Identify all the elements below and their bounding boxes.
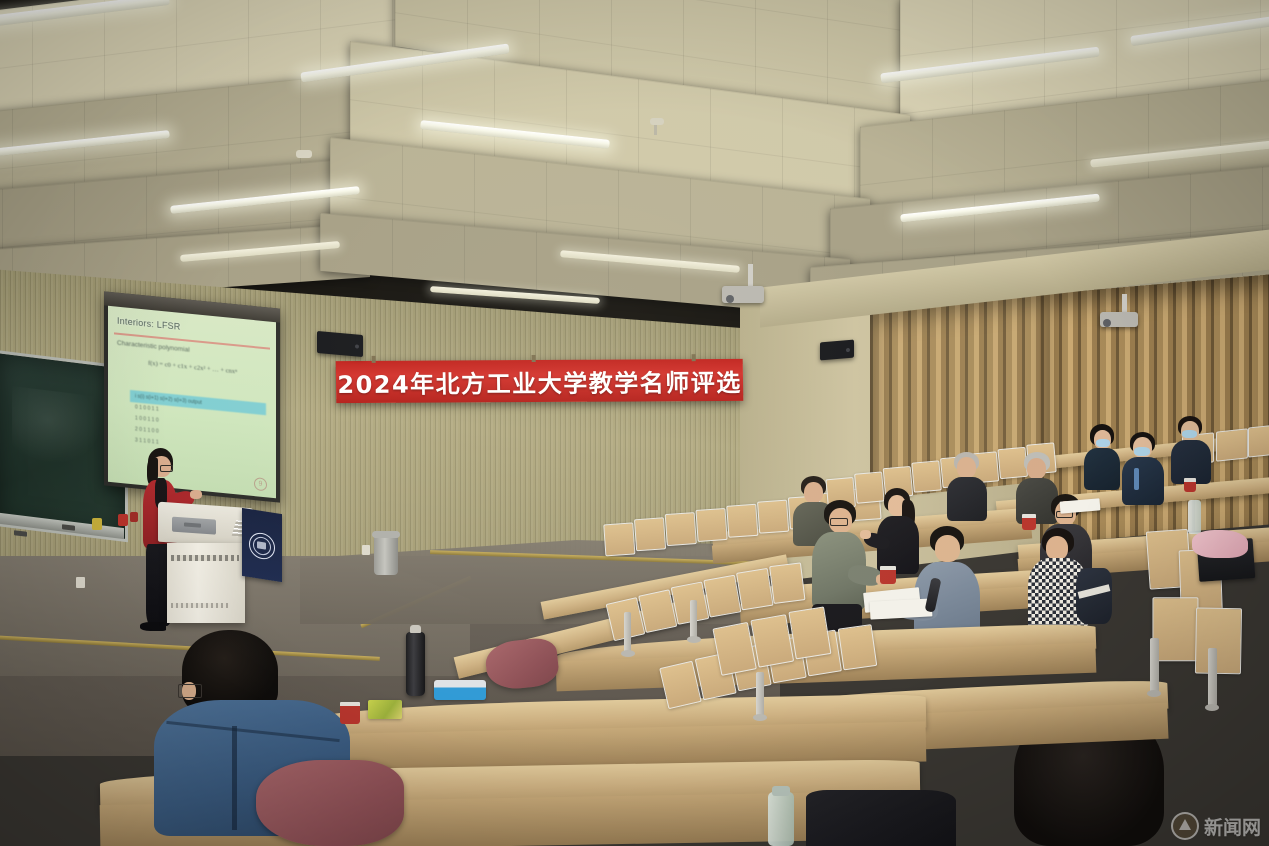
evaluation-papers [870, 598, 933, 619]
attendee-head [804, 482, 823, 503]
smoke-detector-icon [296, 150, 312, 158]
chair[interactable] [712, 622, 756, 676]
chair[interactable] [665, 512, 697, 546]
presenter-shoe [140, 622, 166, 631]
black-thermos-bottle [406, 632, 425, 696]
trash-can [374, 535, 398, 575]
lecture-hall-photo: Interiors: LFSR Characteristic polynomia… [0, 0, 1269, 846]
wall-outlet [362, 545, 370, 555]
bottle-cap [772, 786, 790, 796]
projection-screen: Interiors: LFSR Characteristic polynomia… [104, 291, 280, 502]
watermark-logo-icon [1171, 812, 1199, 840]
clear-water-bottle [768, 792, 794, 846]
smoke-detector-icon [650, 118, 664, 125]
face-mask [1182, 430, 1197, 438]
slide-bullet: Characteristic polynomial [117, 340, 190, 354]
red-paper-cup [880, 566, 896, 584]
chair[interactable] [1195, 607, 1242, 674]
lectern-control-panel[interactable] [172, 517, 216, 535]
attendee-hand [860, 530, 871, 539]
projector-mount [1122, 294, 1127, 314]
face-mask [1096, 439, 1110, 447]
jacket-stripe [1134, 468, 1139, 490]
chair[interactable] [788, 606, 831, 659]
chair[interactable] [750, 614, 794, 668]
glasses-icon [830, 518, 848, 526]
lectern [158, 505, 254, 623]
attendee-head [1046, 536, 1068, 560]
dusty-rose-coat [256, 760, 404, 846]
chalk-box-red [130, 512, 138, 522]
attendee-head [935, 535, 960, 562]
face-mask [1134, 447, 1150, 456]
chair-pedestal [1150, 638, 1159, 692]
thermos-cap [410, 625, 421, 633]
chair-foot [1147, 690, 1161, 697]
chair-foot [753, 714, 767, 721]
pink-tote-bag [1192, 530, 1248, 558]
chair-foot [1205, 704, 1219, 711]
wall-speaker [317, 331, 363, 357]
chair[interactable] [603, 522, 635, 556]
slide-table: i s(i) s(i+1) s(i+2) s(i+3) output 0 1 0… [130, 390, 266, 459]
chair[interactable] [911, 460, 942, 492]
chair-foot [621, 650, 635, 657]
projector-lens-icon [726, 295, 734, 303]
watermark: 新闻网 [1171, 812, 1261, 840]
presenter-glasses-icon [160, 465, 173, 472]
attendee-head [957, 457, 976, 478]
denim-seam [232, 726, 237, 830]
chalk-box-yellow [92, 518, 102, 530]
presenter-hand [190, 490, 202, 499]
banner-clip [372, 356, 376, 363]
green-snack-box [368, 700, 402, 719]
lectern-top [158, 502, 254, 549]
attendee-torso [1084, 448, 1120, 490]
slide-title: Interiors: LFSR [117, 316, 181, 332]
sprinkler-icon [654, 125, 657, 135]
backpack [806, 790, 956, 846]
chair[interactable] [634, 517, 666, 551]
clear-water-bottle [1188, 500, 1201, 534]
event-banner: 2024年北方工业大学教学名师评选 [336, 359, 744, 403]
lectern-vent-strip [171, 555, 239, 561]
university-seal-icon [249, 531, 275, 561]
projector-lens-icon [1103, 319, 1111, 327]
chair-foot [687, 636, 701, 643]
chair-pedestal [624, 612, 631, 652]
glasses-icon [178, 684, 202, 698]
chair[interactable] [695, 508, 727, 542]
wall-speaker [820, 340, 854, 361]
slide-formula: f(x) = c0 + c1x + c2x² + … + cnxⁿ [148, 360, 237, 376]
attendee-head [1027, 458, 1046, 479]
wall-outlet [76, 577, 85, 588]
chair[interactable] [726, 504, 758, 538]
chair-pedestal [690, 600, 697, 638]
attendee-torso [1122, 457, 1164, 505]
chair[interactable] [1248, 424, 1269, 457]
red-paper-cup [1184, 478, 1196, 492]
chair[interactable] [1216, 428, 1248, 461]
presentation-slide: Interiors: LFSR Characteristic polynomia… [108, 306, 276, 498]
slide-page-number: 9 [254, 477, 267, 491]
projector-mount [748, 264, 753, 288]
chalk-box-red [118, 514, 128, 526]
chair[interactable] [757, 500, 789, 534]
chalk-smudge [12, 386, 102, 472]
attendee-torso [947, 477, 987, 521]
event-banner-text: 2024年北方工业大学教学名师评选 [337, 362, 742, 399]
chair-pedestal [1208, 648, 1217, 706]
chair[interactable] [659, 661, 702, 710]
blue-plastic-bag [434, 680, 486, 700]
chair[interactable] [1152, 597, 1198, 661]
lectern-lower-vent [171, 603, 229, 608]
banner-clip [692, 354, 696, 361]
watermark-text: 新闻网 [1204, 813, 1261, 840]
banner-clip [532, 355, 536, 362]
red-paper-cup [1022, 514, 1036, 530]
lectern-body [167, 543, 245, 623]
chair[interactable] [854, 471, 885, 503]
chair-pedestal [756, 672, 764, 716]
podium-banner [242, 508, 282, 582]
red-paper-cup [340, 702, 360, 724]
